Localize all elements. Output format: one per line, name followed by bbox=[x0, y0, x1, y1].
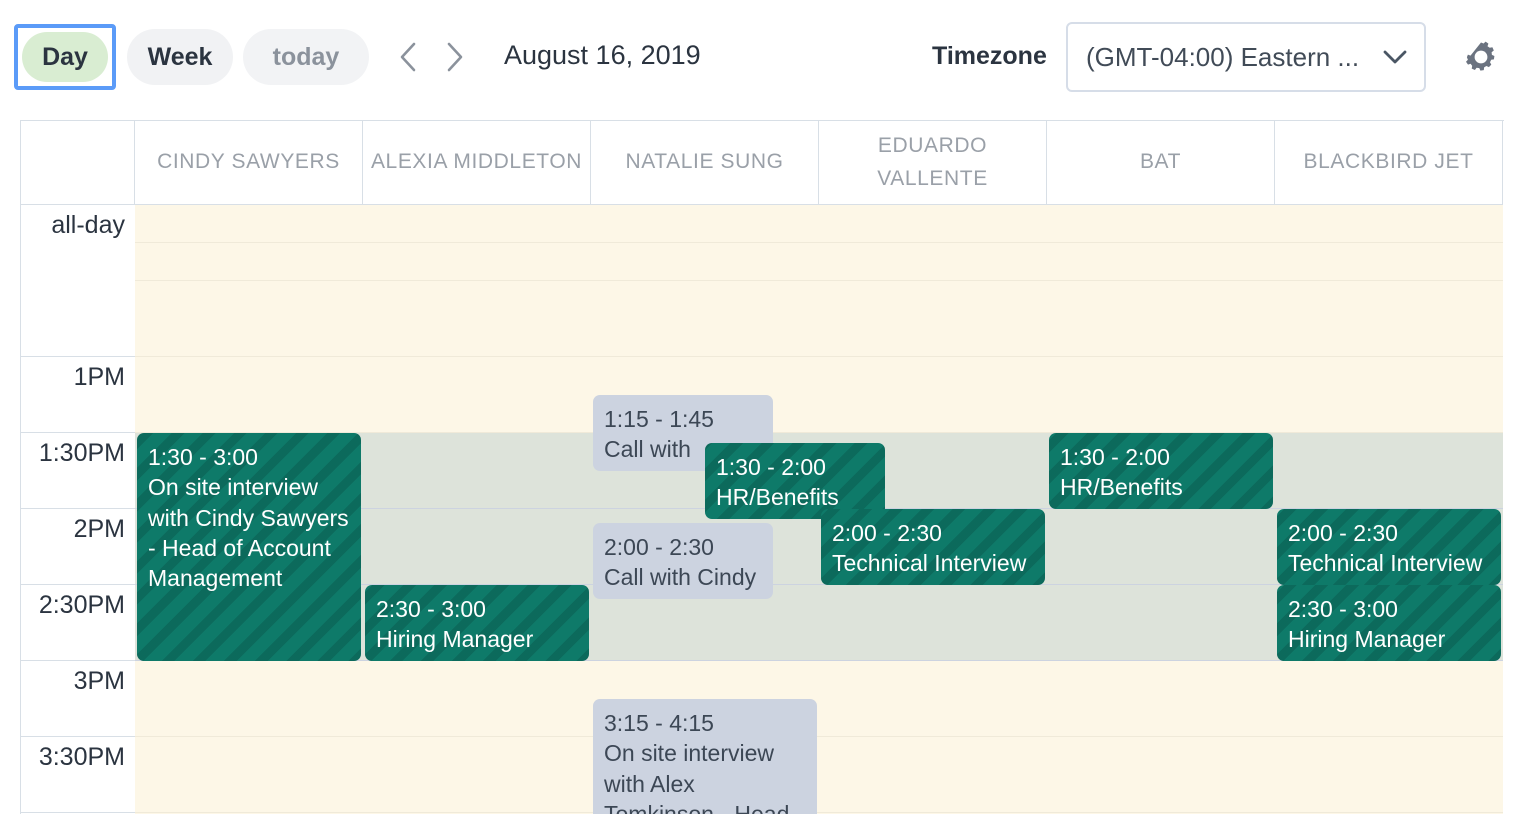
time-slot[interactable] bbox=[363, 243, 591, 281]
time-label: 1:30PM bbox=[21, 433, 135, 509]
time-slot[interactable] bbox=[1047, 205, 1275, 243]
event-time: 3:15 - 4:15 bbox=[604, 708, 806, 738]
chevron-left-icon[interactable] bbox=[388, 36, 428, 78]
time-slot[interactable] bbox=[591, 243, 819, 281]
calendar-event[interactable]: 3:15 - 4:15On site interview with Alex T… bbox=[593, 699, 817, 814]
time-slot[interactable] bbox=[1275, 281, 1503, 357]
time-slot[interactable] bbox=[1047, 585, 1275, 661]
calendar-event[interactable]: 1:30 - 2:00HR/Benefits bbox=[1049, 433, 1273, 509]
day-column[interactable]: 2:00 - 2:30Technical Interview2:30 - 3:0… bbox=[1275, 205, 1503, 814]
time-slot[interactable] bbox=[363, 661, 591, 737]
time-label: 3PM bbox=[21, 661, 135, 737]
time-slot[interactable] bbox=[1275, 737, 1503, 813]
time-label: all-day bbox=[21, 205, 135, 357]
time-slot[interactable] bbox=[1275, 433, 1503, 509]
time-slot[interactable] bbox=[135, 661, 363, 737]
current-date-label: August 16, 2019 bbox=[504, 40, 701, 71]
calendar-event[interactable]: 1:30 - 2:00HR/Benefits bbox=[705, 443, 885, 519]
calendar-event[interactable]: 2:00 - 2:30Technical Interview bbox=[1277, 509, 1501, 585]
event-time: 2:00 - 2:30 bbox=[604, 532, 762, 562]
time-slot[interactable] bbox=[819, 357, 1047, 433]
view-day-button[interactable]: Day bbox=[22, 32, 108, 82]
calendar-column-headers: CINDY SAWYERSALEXIA MIDDLETONNATALIE SUN… bbox=[21, 121, 1504, 205]
timezone-select[interactable]: (GMT-04:00) Eastern ... bbox=[1066, 22, 1426, 92]
time-slot[interactable] bbox=[1047, 661, 1275, 737]
time-slot[interactable] bbox=[363, 357, 591, 433]
event-title: Hiring Manager Interview bbox=[1288, 624, 1490, 661]
event-time: 2:00 - 2:30 bbox=[1288, 518, 1490, 548]
time-slot[interactable] bbox=[1047, 243, 1275, 281]
gear-icon[interactable] bbox=[1460, 36, 1502, 78]
time-label: 3:30PM bbox=[21, 737, 135, 813]
day-column[interactable]: 1:30 - 3:00On site interview with Cindy … bbox=[135, 205, 363, 814]
time-slot[interactable] bbox=[819, 243, 1047, 281]
day-columns: 1:30 - 3:00On site interview with Cindy … bbox=[135, 205, 1504, 814]
time-label: 2PM bbox=[21, 509, 135, 585]
time-slot[interactable] bbox=[1047, 357, 1275, 433]
event-time: 2:30 - 3:00 bbox=[376, 594, 578, 624]
event-title: HR/Benefits bbox=[1060, 472, 1262, 502]
view-week-label: Week bbox=[148, 43, 213, 72]
event-time: 1:30 - 2:00 bbox=[716, 452, 874, 482]
time-slot[interactable] bbox=[363, 509, 591, 585]
event-title: Call with Cindy Sawyers bbox=[604, 562, 762, 599]
day-column[interactable]: 2:30 - 3:00Hiring Manager Interview bbox=[363, 205, 591, 814]
calendar-body: all-day1PM1:30PM2PM2:30PM3PM3:30PM4PM 1:… bbox=[21, 205, 1504, 814]
time-slot[interactable] bbox=[591, 205, 819, 243]
time-slot[interactable] bbox=[363, 433, 591, 509]
time-slot[interactable] bbox=[1275, 357, 1503, 433]
calendar-event[interactable]: 2:00 - 2:30Call with Cindy Sawyers bbox=[593, 523, 773, 599]
time-slot[interactable] bbox=[819, 737, 1047, 813]
calendar-event[interactable]: 2:00 - 2:30Technical Interview bbox=[821, 509, 1045, 585]
time-slot[interactable] bbox=[1275, 243, 1503, 281]
today-button[interactable]: today bbox=[243, 29, 369, 85]
view-day-label: Day bbox=[42, 43, 88, 72]
calendar-toolbar: Day Week today August 16, 2019 Timezone … bbox=[0, 0, 1540, 114]
view-week-button[interactable]: Week bbox=[127, 29, 233, 85]
time-slot[interactable] bbox=[135, 281, 363, 357]
event-time: 1:30 - 2:00 bbox=[1060, 442, 1262, 472]
time-slot[interactable] bbox=[363, 281, 591, 357]
event-time: 2:00 - 2:30 bbox=[832, 518, 1034, 548]
event-time: 1:30 - 3:00 bbox=[148, 442, 350, 472]
time-slot[interactable] bbox=[1047, 737, 1275, 813]
event-title: Technical Interview bbox=[1288, 548, 1490, 578]
time-label: 1PM bbox=[21, 357, 135, 433]
column-header: EDUARDO VALLENTE bbox=[819, 121, 1047, 205]
event-time: 1:15 - 1:45 bbox=[604, 404, 762, 434]
day-column[interactable]: 2:00 - 2:30Technical Interview4:15 - 5:1… bbox=[819, 205, 1047, 814]
calendar-event[interactable]: 2:30 - 3:00Hiring Manager Interview bbox=[1277, 585, 1501, 661]
time-gutter-header bbox=[21, 121, 135, 205]
event-time: 2:30 - 3:00 bbox=[1288, 594, 1490, 624]
time-slot[interactable] bbox=[135, 243, 363, 281]
time-slot[interactable] bbox=[819, 281, 1047, 357]
column-header: ALEXIA MIDDLETON bbox=[363, 121, 591, 205]
view-day-button-focus-ring: Day bbox=[14, 24, 116, 90]
column-header: BLACKBIRD JET bbox=[1275, 121, 1503, 205]
timezone-label: Timezone bbox=[932, 42, 1047, 71]
time-slot[interactable] bbox=[363, 205, 591, 243]
time-slot[interactable] bbox=[135, 357, 363, 433]
calendar-event[interactable]: 2:30 - 3:00Hiring Manager Interview bbox=[365, 585, 589, 661]
day-column[interactable]: 1:15 - 1:45Call with Tomkinson1:30 - 2:0… bbox=[591, 205, 819, 814]
event-title: Hiring Manager Interview bbox=[376, 624, 578, 661]
time-gutter: all-day1PM1:30PM2PM2:30PM3PM3:30PM4PM bbox=[21, 205, 135, 814]
event-title: Technical Interview bbox=[832, 548, 1034, 578]
day-column[interactable]: 1:30 - 2:00HR/Benefits bbox=[1047, 205, 1275, 814]
column-header: NATALIE SUNG bbox=[591, 121, 819, 205]
calendar-grid: CINDY SAWYERSALEXIA MIDDLETONNATALIE SUN… bbox=[20, 120, 1504, 814]
column-header: BAT bbox=[1047, 121, 1275, 205]
time-slot[interactable] bbox=[819, 585, 1047, 661]
event-title: On site interview with Alex Tomkinson - … bbox=[604, 738, 806, 814]
time-slot[interactable] bbox=[1275, 661, 1503, 737]
calendar-event[interactable]: 1:30 - 3:00On site interview with Cindy … bbox=[137, 433, 361, 661]
time-slot[interactable] bbox=[591, 281, 819, 357]
today-label: today bbox=[273, 43, 340, 72]
time-slot[interactable] bbox=[1047, 509, 1275, 585]
time-slot[interactable] bbox=[363, 737, 591, 813]
time-slot[interactable] bbox=[135, 205, 363, 243]
time-label: 2:30PM bbox=[21, 585, 135, 661]
time-slot[interactable] bbox=[819, 661, 1047, 737]
time-slot[interactable] bbox=[819, 205, 1047, 243]
timezone-value: (GMT-04:00) Eastern ... bbox=[1086, 42, 1359, 73]
time-slot[interactable] bbox=[1275, 205, 1503, 243]
time-slot[interactable] bbox=[135, 737, 363, 813]
chevron-right-icon[interactable] bbox=[434, 36, 474, 78]
time-slot[interactable] bbox=[1047, 281, 1275, 357]
chevron-down-icon bbox=[1382, 49, 1408, 65]
event-title: On site interview with Cindy Sawyers - H… bbox=[148, 472, 350, 593]
column-header: CINDY SAWYERS bbox=[135, 121, 363, 205]
